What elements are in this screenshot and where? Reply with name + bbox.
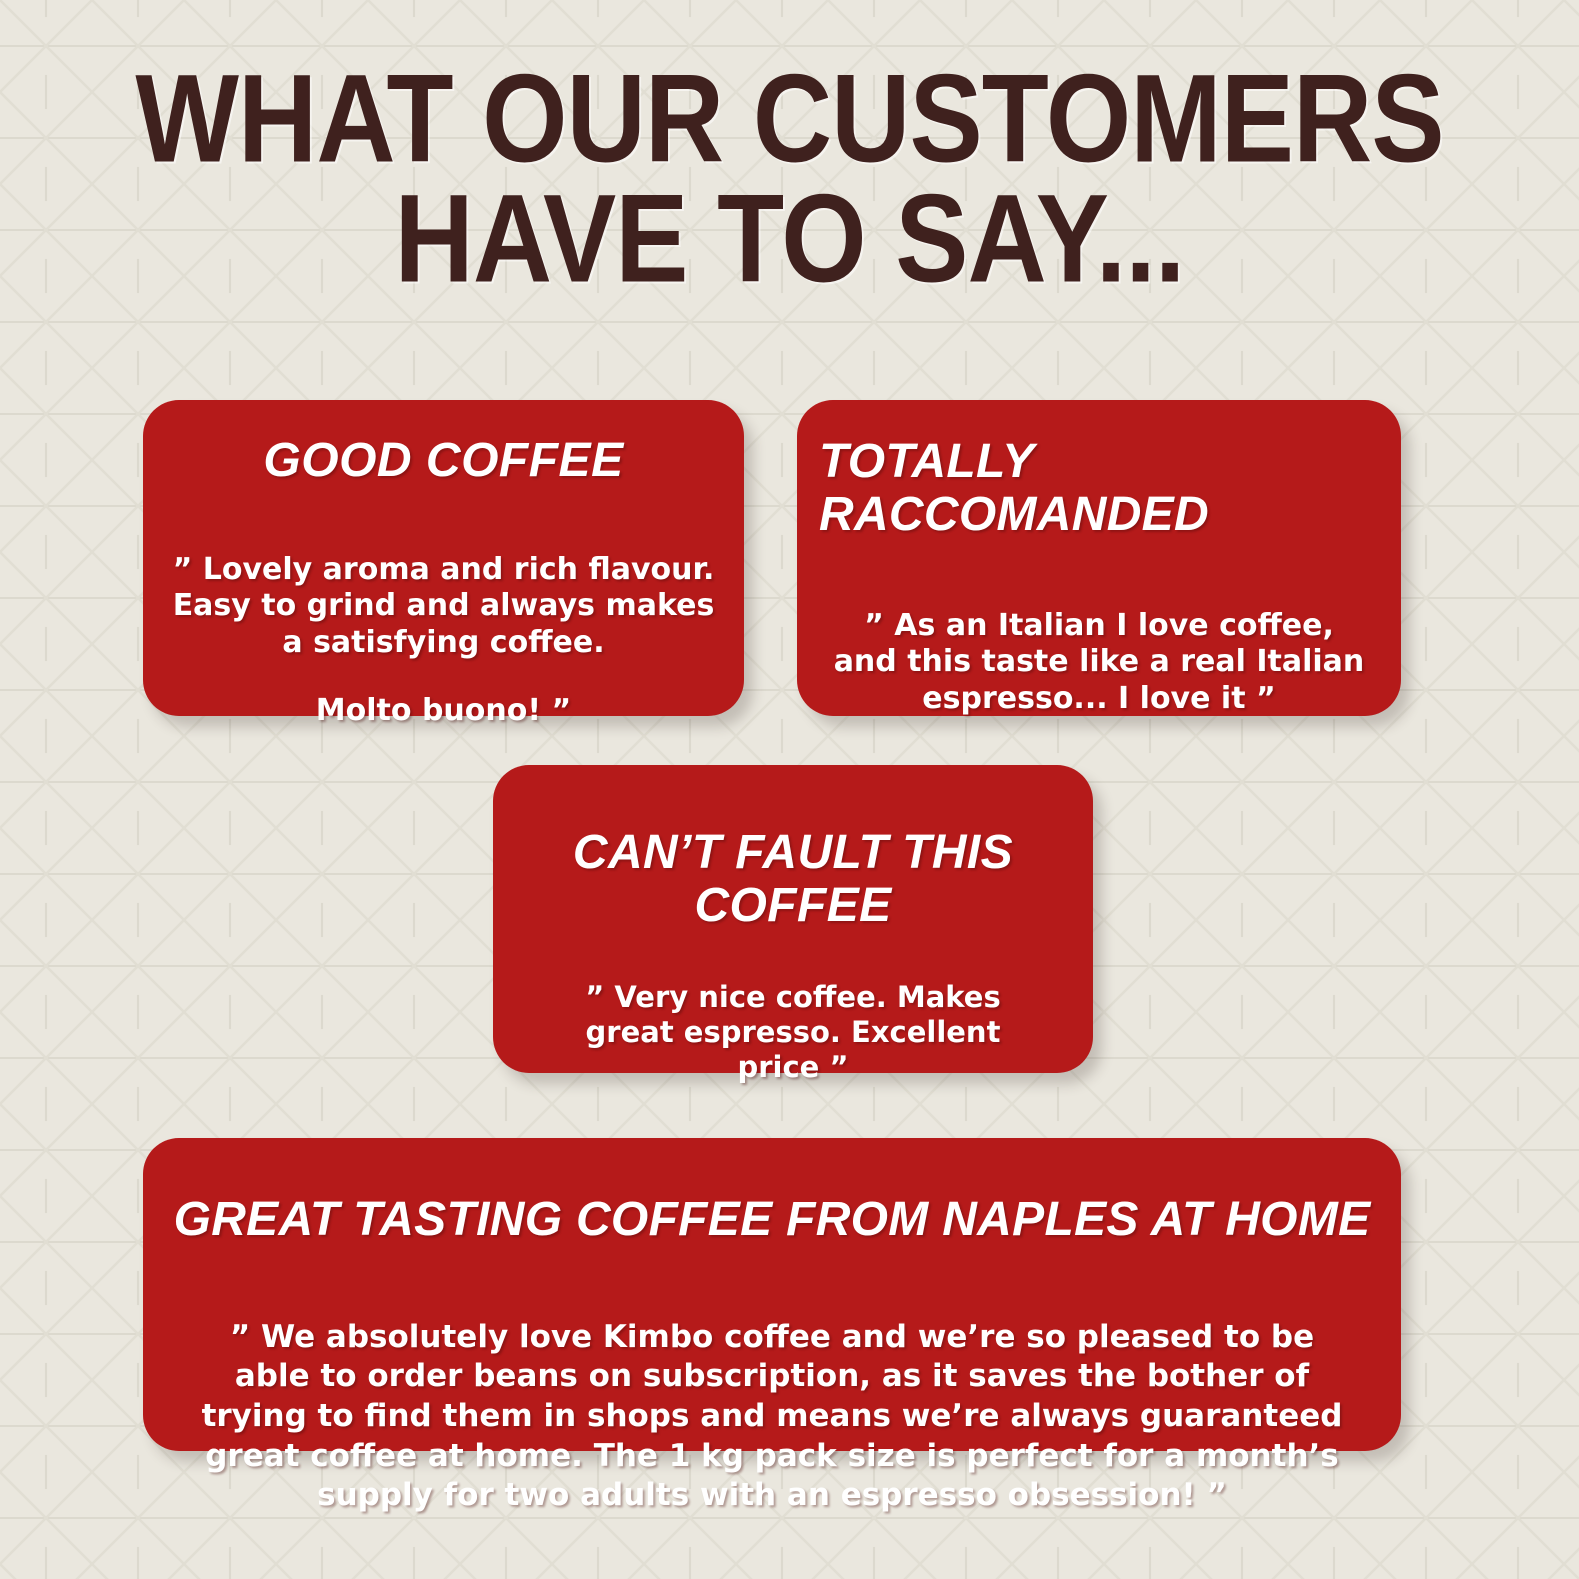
testimonial-body: ” Very nice coffee. Makes great espresso… <box>493 933 1093 1086</box>
page-title-line-2: HAVE TO SAY... <box>55 179 1523 300</box>
testimonial-heading: GREAT TASTING COFFEE FROM NAPLES AT HOME <box>143 1138 1401 1247</box>
testimonial-paragraph: Molto buono! ” <box>165 693 722 730</box>
testimonial-card-great-tasting-coffee: GREAT TASTING COFFEE FROM NAPLES AT HOME… <box>143 1138 1401 1451</box>
testimonial-body: ” As an Italian I love coffee, and this … <box>797 542 1401 718</box>
testimonial-heading: CAN’T FAULT THIS COFFEE <box>493 765 1093 933</box>
testimonial-heading: TOTALLY RACCOMANDED <box>797 400 1401 542</box>
testimonial-paragraph: ” We absolutely love Kimbo coffee and we… <box>195 1318 1349 1516</box>
testimonial-body: ” We absolutely love Kimbo coffee and we… <box>143 1247 1401 1516</box>
poster-canvas: WHAT OUR CUSTOMERS HAVE TO SAY... GOOD C… <box>0 0 1579 1579</box>
testimonial-card-good-coffee: GOOD COFFEE ” Lovely aroma and rich flav… <box>143 400 744 716</box>
testimonial-card-cant-fault-this-coffee: CAN’T FAULT THIS COFFEE ” Very nice coff… <box>493 765 1093 1073</box>
page-title: WHAT OUR CUSTOMERS HAVE TO SAY... <box>0 62 1579 297</box>
testimonial-paragraph: ” Lovely aroma and rich flavour. Easy to… <box>165 552 722 662</box>
page-title-line-1: WHAT OUR CUSTOMERS <box>55 59 1523 180</box>
testimonial-body: ” Lovely aroma and rich flavour. Easy to… <box>143 488 744 730</box>
testimonial-heading: GOOD COFFEE <box>143 400 744 488</box>
testimonial-paragraph: ” As an Italian I love coffee, and this … <box>831 608 1367 718</box>
testimonial-card-totally-raccomanded: TOTALLY RACCOMANDED ” As an Italian I lo… <box>797 400 1401 716</box>
testimonial-paragraph: ” Very nice coffee. Makes great espresso… <box>553 980 1033 1086</box>
